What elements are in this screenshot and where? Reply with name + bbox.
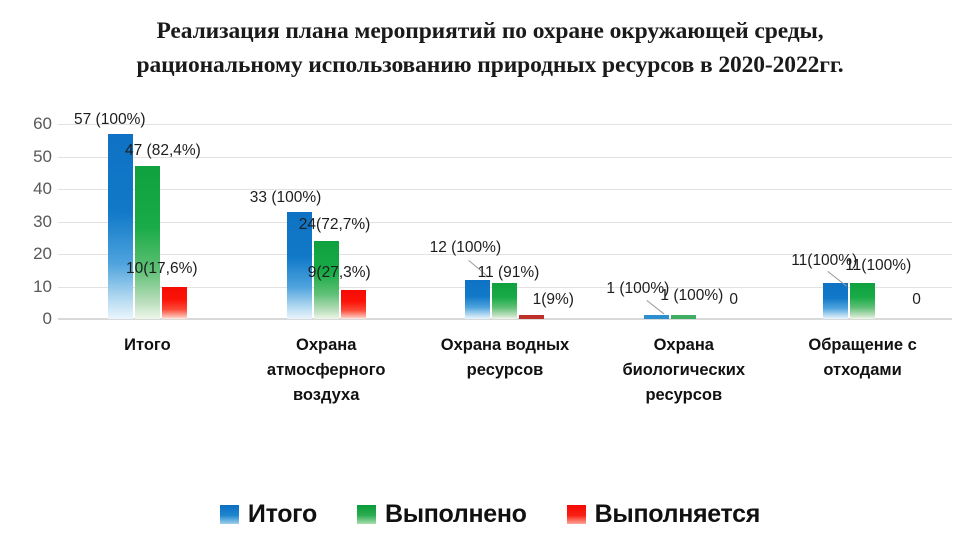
x-label-bio: Охрана биологических ресурсов	[594, 333, 773, 408]
label-bio-done: 1 (100%)	[660, 287, 723, 305]
bar-bio-done[interactable]	[671, 315, 696, 319]
x-label-itogo: Итого	[58, 333, 237, 358]
y-tick-60: 60	[0, 114, 52, 134]
bar-waste-total[interactable]	[823, 283, 848, 319]
bar-water-inprogress[interactable]	[519, 315, 544, 319]
bar-group-itogo: 57 (100%) 47 (82,4%) 10(17,6%)	[58, 124, 237, 319]
x-label-waste: Обращение с отходами	[773, 333, 952, 383]
bar-waste-done[interactable]	[850, 283, 875, 319]
bar-group-water: 12 (100%) 11 (91%) 1(9%)	[416, 124, 595, 319]
bar-group-air: 33 (100%) 24(72,7%) 9(27,3%)	[237, 124, 416, 319]
x-label-air-line-3: воздуха	[237, 383, 416, 408]
legend-swatch-blue-icon	[220, 505, 239, 524]
x-label-waste-line-1: Обращение с	[773, 333, 952, 358]
bar-itogo-inprogress[interactable]	[162, 287, 187, 320]
label-itogo-inprogress: 10(17,6%)	[126, 260, 198, 278]
y-tick-50: 50	[0, 147, 52, 167]
bar-water-total[interactable]	[465, 280, 490, 319]
legend-label-itogo: Итого	[248, 500, 317, 529]
y-tick-0: 0	[0, 309, 52, 329]
label-itogo-total: 57 (100%)	[74, 111, 146, 129]
y-tick-40: 40	[0, 179, 52, 199]
bar-group-waste: 11(100%) 11(100%) 0	[773, 124, 952, 319]
legend-item-vypolnyaetsya[interactable]: Выполняется	[567, 500, 760, 529]
bar-itogo-total[interactable]	[108, 134, 133, 319]
y-axis-labels: 0 10 20 30 40 50 60	[0, 124, 52, 319]
y-tick-20: 20	[0, 244, 52, 264]
label-water-inprogress: 1(9%)	[533, 291, 574, 309]
chart-canvas: Реализация плана мероприятий по охране о…	[0, 0, 980, 551]
legend-label-vypolnyaetsya: Выполняется	[595, 500, 760, 529]
label-itogo-done: 47 (82,4%)	[125, 142, 201, 160]
label-water-done: 11 (91%)	[478, 264, 540, 282]
x-label-bio-line-3: ресурсов	[594, 383, 773, 408]
legend-item-vypolneno[interactable]: Выполнено	[357, 500, 527, 529]
label-air-done: 24(72,7%)	[299, 216, 371, 234]
y-tick-30: 30	[0, 212, 52, 232]
label-waste-done: 11(100%)	[845, 257, 911, 275]
bar-water-done[interactable]	[492, 283, 517, 319]
bar-bio-inprogress[interactable]	[698, 317, 723, 319]
legend-swatch-green-icon	[357, 505, 376, 524]
x-axis-labels: Итого Охрана атмосферного воздуха Охрана…	[58, 333, 952, 423]
chart-title: Реализация плана мероприятий по охране о…	[0, 14, 980, 82]
label-water-total: 12 (100%)	[430, 239, 502, 257]
label-bio-inprogress: 0	[729, 291, 738, 309]
x-label-bio-line-1: Охрана	[594, 333, 773, 358]
x-label-bio-line-2: биологических	[594, 358, 773, 383]
x-label-air-line-2: атмосферного	[237, 358, 416, 383]
x-label-air: Охрана атмосферного воздуха	[237, 333, 416, 408]
bar-air-inprogress[interactable]	[341, 290, 366, 319]
x-label-air-line-1: Охрана	[237, 333, 416, 358]
y-tick-10: 10	[0, 277, 52, 297]
legend-swatch-red-icon	[567, 505, 586, 524]
x-label-itogo-line-1: Итого	[58, 333, 237, 358]
label-air-inprogress: 9(27,3%)	[308, 264, 371, 282]
label-air-total: 33 (100%)	[250, 189, 322, 207]
x-label-water-line-1: Охрана водных	[416, 333, 595, 358]
chart-title-line-2: рациональному использованию природных ре…	[0, 48, 980, 82]
legend-item-itogo[interactable]: Итого	[220, 500, 317, 529]
x-label-water: Охрана водных ресурсов	[416, 333, 595, 383]
bar-waste-inprogress[interactable]	[877, 317, 902, 319]
bar-groups: 57 (100%) 47 (82,4%) 10(17,6%) 33 (100%)…	[58, 124, 952, 319]
chart-legend: Итого Выполнено Выполняется	[0, 500, 980, 529]
bar-bio-total[interactable]	[644, 315, 669, 319]
bar-group-bio: 1 (100%) 1 (100%) 0	[594, 124, 773, 319]
bar-itogo-done[interactable]	[135, 166, 160, 319]
legend-label-vypolneno: Выполнено	[385, 500, 527, 529]
x-label-waste-line-2: отходами	[773, 358, 952, 383]
label-waste-inprogress: 0	[912, 291, 921, 309]
x-label-water-line-2: ресурсов	[416, 358, 595, 383]
chart-title-line-1: Реализация плана мероприятий по охране о…	[156, 18, 823, 44]
